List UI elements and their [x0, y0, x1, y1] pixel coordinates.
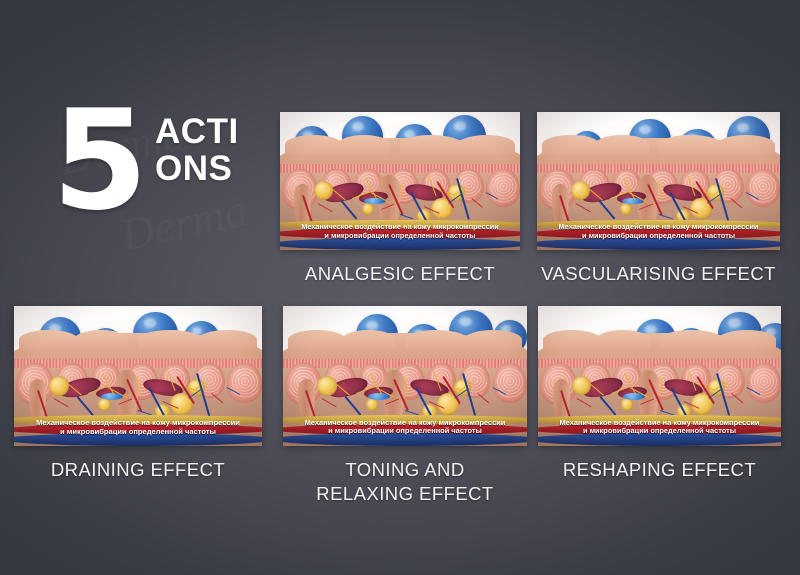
skin-illustration-reshaping: Механическое воздействие на кожу микроко…: [538, 306, 781, 446]
panel-label-line: DRAINING EFFECT: [14, 458, 262, 482]
panel-reshaping[interactable]: Механическое воздействие на кожу микроко…: [538, 306, 781, 446]
illustration-vignette: [538, 306, 781, 446]
illustration-vignette: [14, 306, 262, 446]
skin-illustration-toning: Механическое воздействие на кожу микроко…: [283, 306, 527, 446]
panel-label-line: TONING AND: [283, 458, 527, 482]
headline-word-line1: ACTI: [155, 113, 247, 150]
panel-label-draining: DRAINING EFFECT: [14, 458, 262, 482]
panel-analgesic[interactable]: Механическое воздействие на кожу микроко…: [280, 112, 520, 250]
skin-illustration-analgesic: Механическое воздействие на кожу микроко…: [280, 112, 520, 250]
headline-word: ACTI ONS: [155, 113, 247, 187]
panel-toning[interactable]: Механическое воздействие на кожу микроко…: [283, 306, 527, 446]
panel-label-line: RESHAPING EFFECT: [538, 458, 781, 482]
panel-label-line: ANALGESIC EFFECT: [280, 262, 520, 286]
panel-label-line: VASCULARISING EFFECT: [537, 262, 780, 286]
panel-label-toning: TONING ANDRELAXING EFFECT: [283, 458, 527, 505]
panel-label-vascularising: VASCULARISING EFFECT: [537, 262, 780, 286]
headline-number: 5: [52, 106, 144, 216]
skin-illustration-draining: Механическое воздействие на кожу микроко…: [14, 306, 262, 446]
panel-draining[interactable]: Механическое воздействие на кожу микроко…: [14, 306, 262, 446]
headline-word-line2: ONS: [155, 150, 247, 187]
illustration-vignette: [280, 112, 520, 250]
panel-label-reshaping: RESHAPING EFFECT: [538, 458, 781, 482]
panel-vascularising[interactable]: Механическое воздействие на кожу микроко…: [537, 112, 780, 250]
illustration-vignette: [537, 112, 780, 250]
promo-banner: Derma Derma 5 ACTI ONS Механическое возд…: [0, 0, 800, 575]
panel-label-line: RELAXING EFFECT: [283, 482, 527, 506]
illustration-vignette: [283, 306, 527, 446]
headline-block: 5 ACTI ONS: [52, 106, 247, 216]
skin-illustration-vascularising: Механическое воздействие на кожу микроко…: [537, 112, 780, 250]
panel-label-analgesic: ANALGESIC EFFECT: [280, 262, 520, 286]
